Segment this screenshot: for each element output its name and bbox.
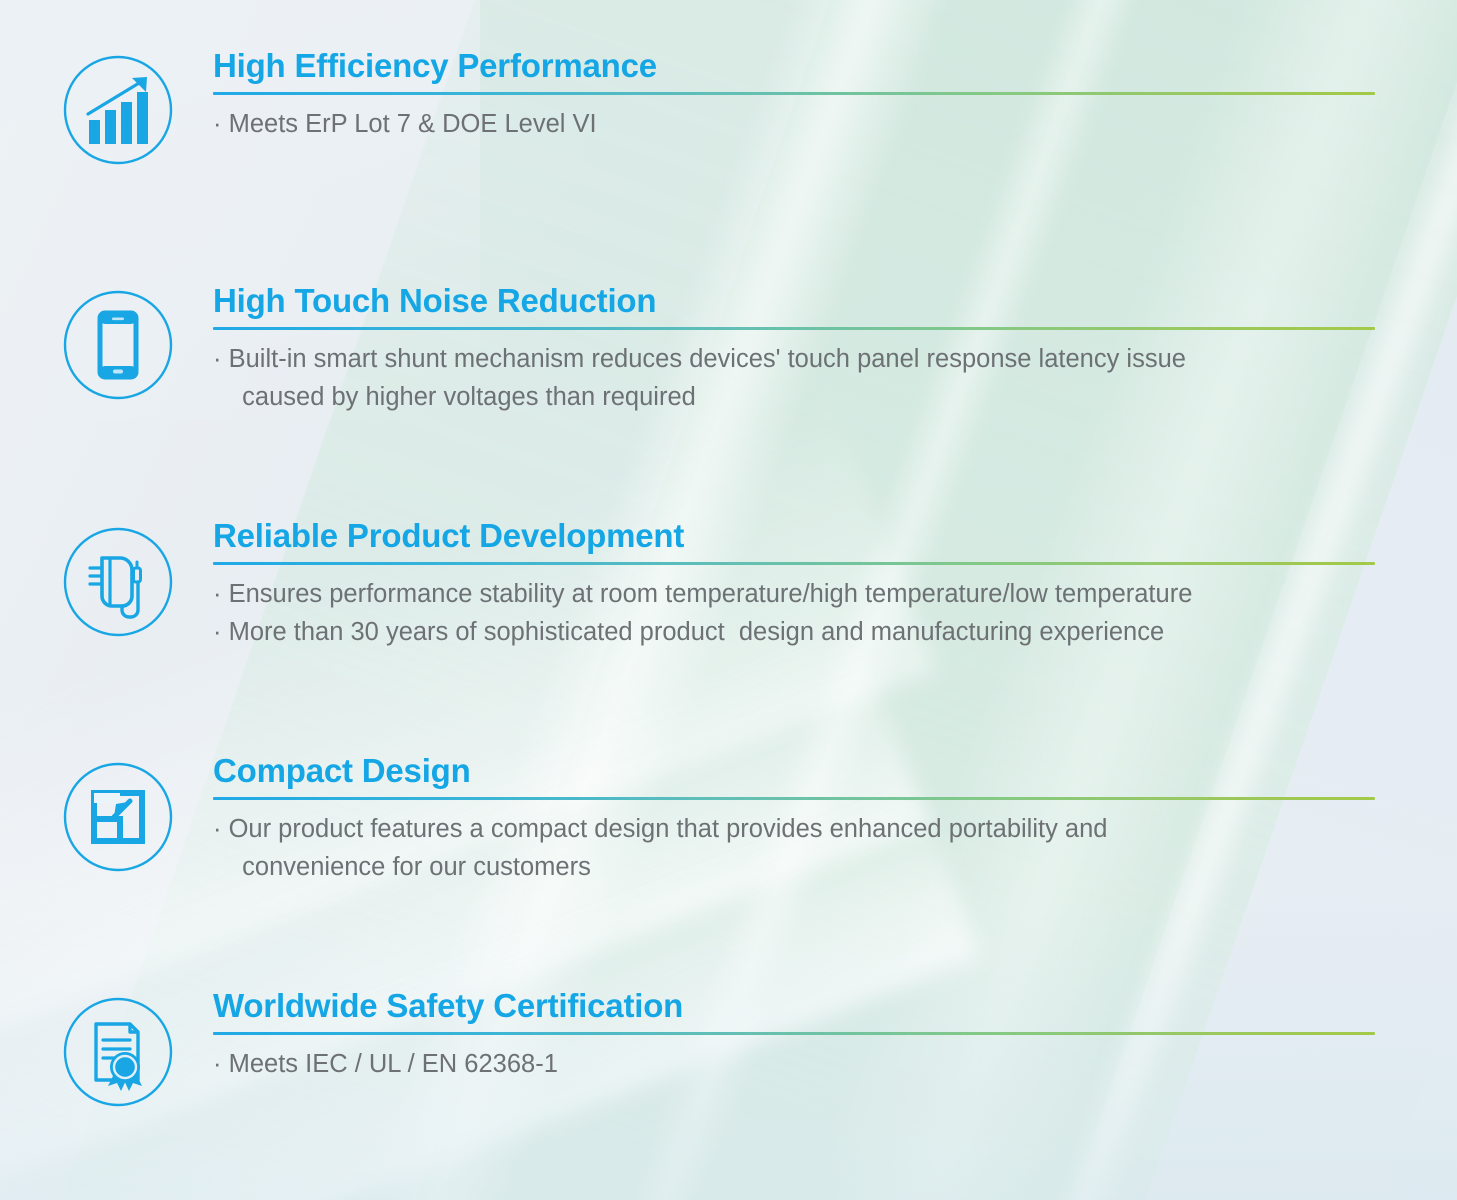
- feature-bullet-list: · Built-in smart shunt mechanism reduces…: [213, 340, 1375, 416]
- feature-bullet-list: · Meets IEC / UL / EN 62368-1: [213, 1045, 1375, 1083]
- feature-bullet-line: · Built-in smart shunt mechanism reduces…: [213, 340, 1375, 416]
- feature-bullet-line: · Ensures performance stability at room …: [213, 575, 1375, 613]
- feature-bullet-text: Built-in smart shunt mechanism reduces d…: [228, 345, 1186, 411]
- feature-bullet-list: · Our product features a compact design …: [213, 810, 1375, 886]
- feature-bullet-text: Meets ErP Lot 7 & DOE Level VI: [229, 110, 597, 138]
- feature-bullet-text: Meets IEC / UL / EN 62368-1: [229, 1050, 558, 1078]
- bullet-glyph: ·: [213, 345, 222, 373]
- bar-chart-growth-icon: [62, 54, 174, 166]
- bullet-glyph: ·: [213, 110, 222, 138]
- feature-bullet-line: · Meets IEC / UL / EN 62368-1: [213, 1045, 1375, 1083]
- bullet-glyph: ·: [213, 815, 222, 843]
- feature-title: Reliable Product Development: [213, 516, 1375, 556]
- feature-bullet-text: More than 30 years of sophisticated prod…: [229, 618, 1165, 646]
- feature-body: Reliable Product Development · Ensures p…: [213, 516, 1375, 651]
- feature-divider: [213, 327, 1375, 330]
- feature-body: High Efficiency Performance · Meets ErP …: [213, 46, 1375, 143]
- feature-title: High Touch Noise Reduction: [213, 281, 1375, 321]
- feature-divider: [213, 1032, 1375, 1035]
- feature-divider: [213, 562, 1375, 565]
- feature-divider: [213, 92, 1375, 95]
- feature-title: High Efficiency Performance: [213, 46, 1375, 86]
- feature-bullet-text: Our product features a compact design th…: [228, 815, 1107, 881]
- bullet-glyph: ·: [213, 618, 222, 646]
- feature-bullet-line: · More than 30 years of sophisticated pr…: [213, 613, 1375, 651]
- feature-title: Worldwide Safety Certification: [213, 986, 1375, 1026]
- feature-bullet-line: · Meets ErP Lot 7 & DOE Level VI: [213, 105, 1375, 143]
- certificate-award-icon: [62, 996, 174, 1108]
- feature-bullet-line: · Our product features a compact design …: [213, 810, 1375, 886]
- feature-divider: [213, 797, 1375, 800]
- feature-body: Compact Design · Our product features a …: [213, 751, 1375, 886]
- power-adapter-icon: [62, 526, 174, 638]
- feature-bullet-list: · Meets ErP Lot 7 & DOE Level VI: [213, 105, 1375, 143]
- feature-body: High Touch Noise Reduction · Built-in sm…: [213, 281, 1375, 416]
- feature-bullet-list: · Ensures performance stability at room …: [213, 575, 1375, 651]
- feature-title: Compact Design: [213, 751, 1375, 791]
- smartphone-icon: [62, 289, 174, 401]
- feature-body: Worldwide Safety Certification · Meets I…: [213, 986, 1375, 1083]
- feature-bullet-text: Ensures performance stability at room te…: [229, 580, 1193, 608]
- compact-resize-icon: [62, 761, 174, 873]
- bullet-glyph: ·: [213, 580, 222, 608]
- bullet-glyph: ·: [213, 1050, 222, 1078]
